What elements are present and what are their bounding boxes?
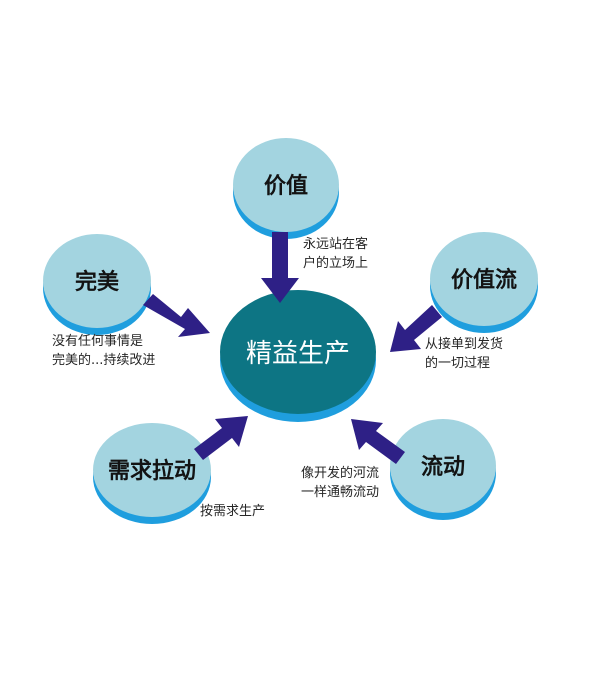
center-node-group[interactable]: 精益生产 bbox=[220, 290, 376, 422]
caption-line: 按需求生产 bbox=[200, 504, 265, 519]
caption-text-flow: 像开发的河流一样通畅流动 bbox=[301, 465, 379, 500]
node-label-value-stream: 价值流 bbox=[451, 267, 517, 293]
node-label-perfection: 完美 bbox=[75, 269, 120, 295]
caption-text-value: 永远站在客户的立场上 bbox=[303, 236, 368, 271]
arrow-pull-to-center bbox=[194, 416, 248, 460]
caption-flow: 像开发的河流一样通畅流动 bbox=[301, 465, 379, 500]
arrow-perfection-to-center bbox=[143, 294, 210, 337]
node-group-pull[interactable]: 需求拉动 bbox=[93, 423, 211, 524]
caption-text-pull: 按需求生产 bbox=[200, 504, 265, 519]
caption-pull: 按需求生产 bbox=[200, 504, 265, 519]
caption-line: 没有任何事情是 bbox=[52, 333, 143, 349]
caption-text-value-stream: 从接单到发货的一切过程 bbox=[425, 336, 503, 371]
node-label-flow: 流动 bbox=[421, 454, 465, 480]
node-label-pull: 需求拉动 bbox=[108, 458, 196, 484]
lean-production-diagram: 价值 价值流 流动 需求拉动 完美 精益生产 bbox=[0, 0, 600, 688]
caption-line: 一样通畅流动 bbox=[301, 485, 379, 500]
caption-line: 户的立场上 bbox=[303, 255, 368, 271]
caption-text-perfection: 没有任何事情是完美的...持续改进 bbox=[52, 333, 155, 368]
caption-line: 像开发的河流 bbox=[301, 465, 379, 481]
node-group-perfection[interactable]: 完美 bbox=[43, 234, 151, 335]
node-group-flow[interactable]: 流动 bbox=[390, 419, 496, 520]
node-group-value[interactable]: 价值 bbox=[233, 138, 339, 239]
caption-value-stream: 从接单到发货的一切过程 bbox=[425, 336, 503, 371]
caption-value: 永远站在客户的立场上 bbox=[303, 236, 368, 271]
node-group-value-stream[interactable]: 价值流 bbox=[430, 232, 538, 333]
caption-line: 从接单到发货 bbox=[425, 336, 503, 352]
node-label-value: 价值 bbox=[264, 173, 308, 199]
caption-line: 的一切过程 bbox=[425, 355, 490, 371]
arrow-flow-to-center bbox=[351, 419, 405, 464]
caption-line: 完美的...持续改进 bbox=[52, 352, 155, 368]
caption-line: 永远站在客 bbox=[303, 236, 368, 252]
caption-perfection: 没有任何事情是完美的...持续改进 bbox=[52, 333, 155, 368]
center-node-label: 精益生产 bbox=[246, 339, 350, 369]
diagram-canvas: 价值 价值流 流动 需求拉动 完美 精益生产 bbox=[0, 0, 600, 688]
